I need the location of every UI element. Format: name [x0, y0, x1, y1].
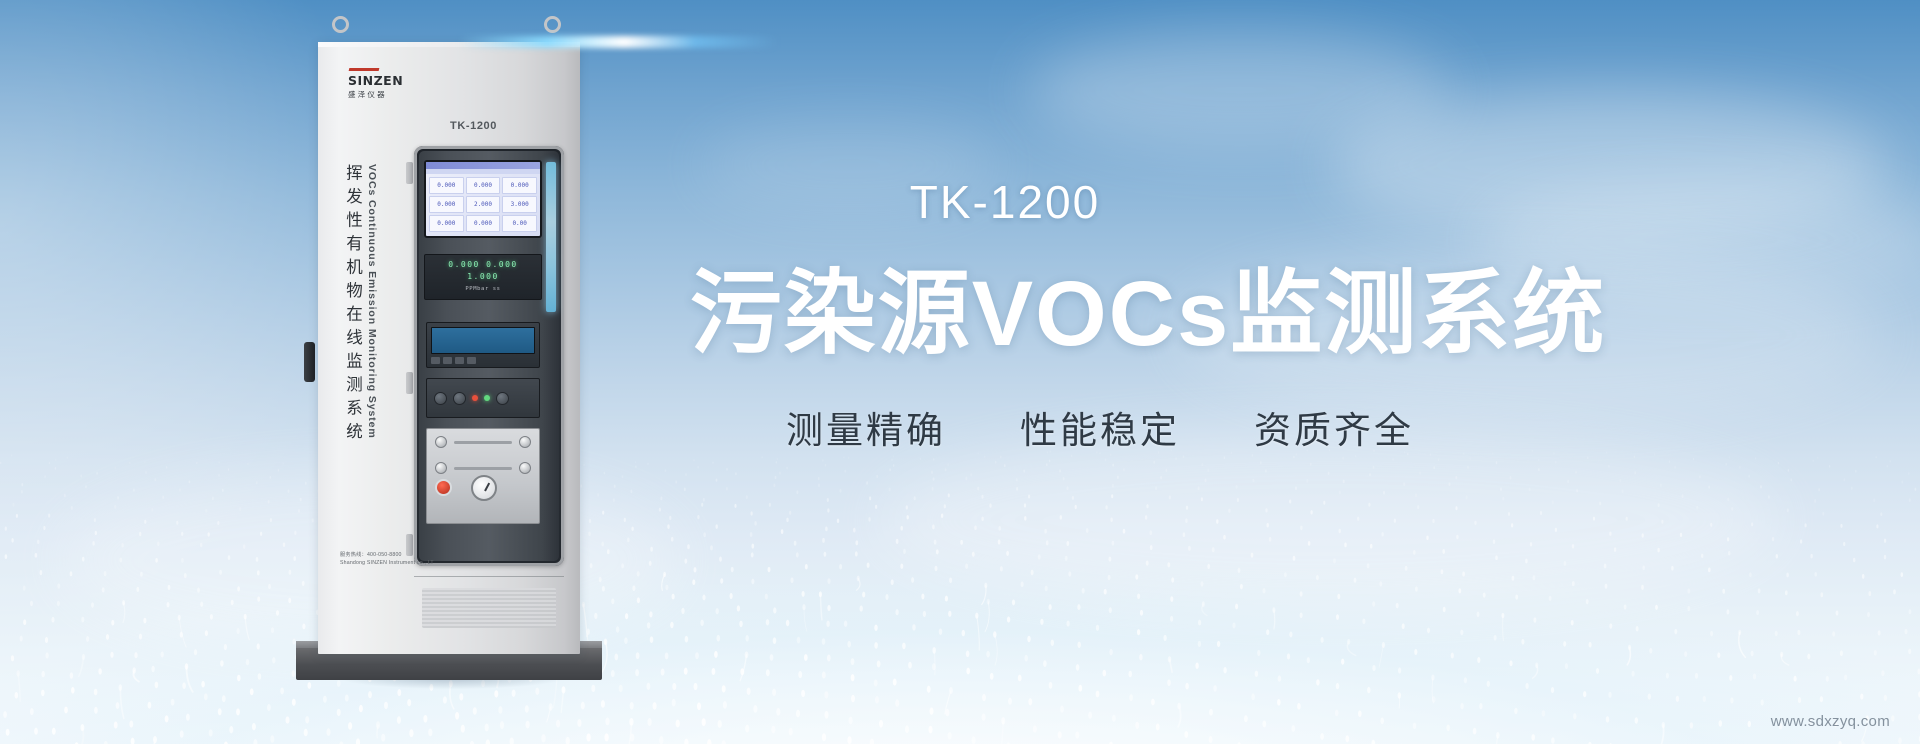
- digital-readout-module: 0.000 0.000 1.000 PPMbar ss: [424, 254, 542, 300]
- brand-name: SINZEN: [348, 73, 403, 88]
- hmi-softkey[interactable]: [517, 237, 537, 238]
- control-knob[interactable]: [453, 392, 466, 405]
- site-watermark: www.sdxzyq.com: [1771, 713, 1890, 730]
- door-handle[interactable]: [304, 342, 315, 382]
- control-knob[interactable]: [496, 392, 509, 405]
- valve-row: [427, 429, 539, 455]
- cloud-wisp: [700, 120, 1000, 210]
- product-cabinet: SINZEN 盛泽仪器 TK-1200 挥发性有机物在线监测系统 VOCs Co…: [318, 28, 580, 688]
- valve-knob[interactable]: [519, 436, 531, 448]
- hmi-touchscreen[interactable]: 0.000 0.000 0.000 0.000 2.000 3.000 0.00…: [424, 160, 542, 238]
- analyzer-button[interactable]: [431, 357, 440, 364]
- status-led-red: [472, 395, 478, 401]
- service-hotline: 服务热线：400-050-8800: [340, 551, 560, 560]
- brand-name-cn: 盛泽仪器: [348, 89, 403, 100]
- indicator-lamp-strip: [546, 162, 556, 312]
- hmi-cell: 0.000: [502, 177, 537, 194]
- particle-dots-front: [0, 414, 1920, 744]
- hmi-softkey[interactable]: [495, 237, 515, 238]
- cabinet-vertical-title: 挥发性有机物在线监测系统 VOCs Continuous Emission Mo…: [344, 164, 377, 446]
- hmi-cell: 0.000: [429, 177, 464, 194]
- control-knob[interactable]: [434, 392, 447, 405]
- hmi-titlebar: [426, 162, 540, 169]
- product-banner: SINZEN 盛泽仪器 TK-1200 挥发性有机物在线监测系统 VOCs Co…: [0, 0, 1920, 744]
- cabinet-body: SINZEN 盛泽仪器 TK-1200 挥发性有机物在线监测系统 VOCs Co…: [318, 42, 580, 654]
- hmi-cell: 0.00: [502, 215, 537, 232]
- analyzer-button[interactable]: [467, 357, 476, 364]
- brand-logo: SINZEN 盛泽仪器: [348, 68, 403, 100]
- status-led-green: [484, 395, 490, 401]
- hmi-softkey[interactable]: [429, 237, 449, 238]
- valve-knob[interactable]: [435, 436, 447, 448]
- cabinet-model-tag: TK-1200: [450, 120, 497, 132]
- emergency-stop-button[interactable]: [435, 479, 452, 496]
- hmi-value-grid: 0.000 0.000 0.000 0.000 2.000 3.000 0.00…: [426, 174, 540, 235]
- door-hinge-top: [406, 162, 413, 184]
- analyzer-module: [426, 322, 540, 368]
- gas-pipe: [454, 441, 512, 444]
- valve-panel: [426, 428, 540, 524]
- company-name-en: Shandong SINZEN Instrument co., LT: [340, 559, 560, 568]
- panel-seam: [414, 576, 564, 577]
- cabinet-door-window: 0.000 0.000 0.000 0.000 2.000 3.000 0.00…: [414, 146, 564, 566]
- hmi-cell: 0.000: [429, 215, 464, 232]
- control-panel: [426, 378, 540, 418]
- valve-knob[interactable]: [435, 462, 447, 474]
- brand-accent-bar: [349, 68, 380, 71]
- pressure-gauge: [471, 475, 497, 501]
- gas-pipe: [454, 467, 512, 470]
- hmi-cell: 0.000: [466, 177, 501, 194]
- hmi-cell: 0.000: [466, 215, 501, 232]
- cabinet-top-shine: [318, 42, 580, 47]
- valve-knob[interactable]: [519, 462, 531, 474]
- analyzer-screen: [431, 327, 535, 354]
- eyebolt-left-icon: [332, 16, 349, 33]
- hmi-cell: 3.000: [502, 196, 537, 213]
- readout-unit: PPMbar ss: [430, 286, 536, 292]
- hmi-softkeys: [426, 235, 540, 238]
- service-plate: 服务热线：400-050-8800 Shandong SINZEN Instru…: [340, 551, 560, 568]
- eyebolt-right-icon: [544, 16, 561, 33]
- particle-wave-field: [0, 414, 1920, 744]
- analyzer-buttons: [431, 357, 535, 364]
- hmi-softkey[interactable]: [473, 237, 493, 238]
- cloud-wisp: [1180, 250, 1880, 420]
- hmi-softkey[interactable]: [451, 237, 471, 238]
- vertical-title-en: VOCs Continuous Emission Monitoring Syst…: [367, 164, 378, 439]
- readout-value: 0.000 0.000 1.000: [430, 259, 536, 283]
- door-hinge-mid: [406, 372, 413, 394]
- analyzer-button[interactable]: [455, 357, 464, 364]
- ventilation-grille: [422, 588, 556, 628]
- hmi-cell: 0.000: [429, 196, 464, 213]
- vertical-title-cn: 挥发性有机物在线监测系统: [344, 164, 361, 446]
- hmi-cell: 2.000: [466, 196, 501, 213]
- analyzer-button[interactable]: [443, 357, 452, 364]
